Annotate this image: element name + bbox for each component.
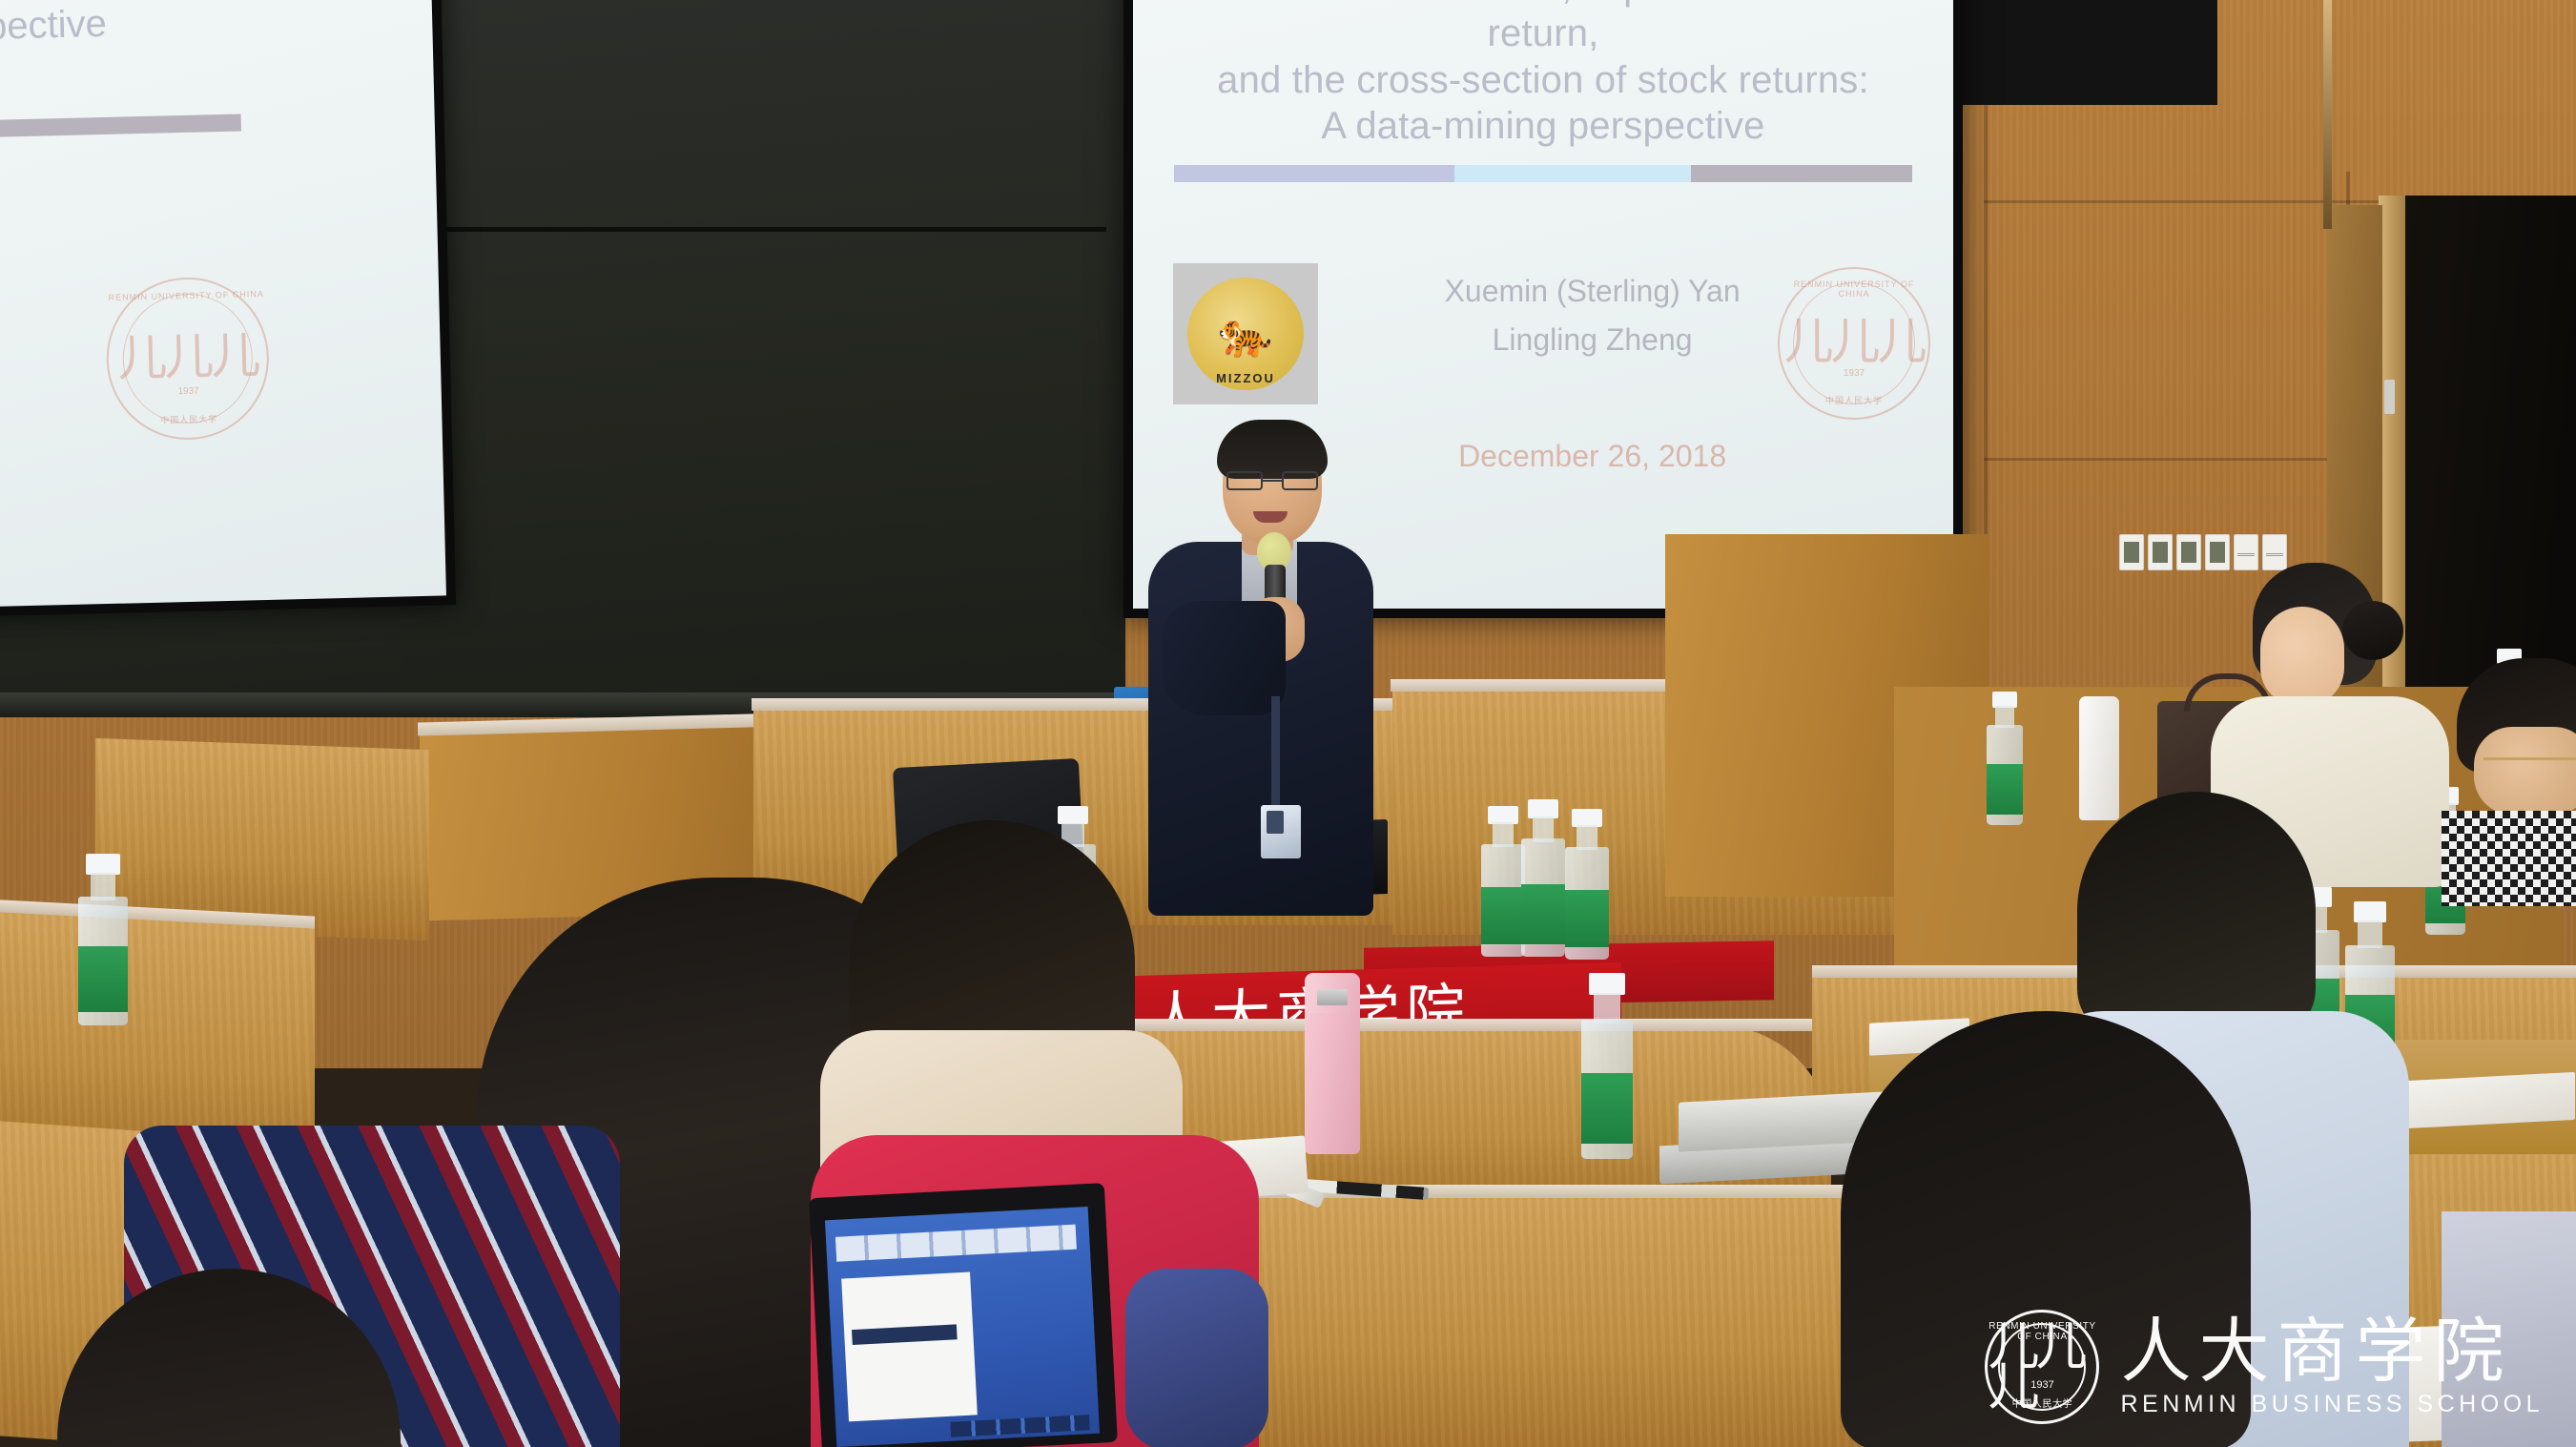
renmin-seal-watermark-icon: RENMIN UNIVERSITY OF CHINA ⼉⼉⼉ 1937 中国人民… (105, 276, 271, 442)
light-switch[interactable] (2119, 534, 2144, 570)
audience-member-man-glasses (2442, 658, 2576, 906)
laptop-document-window[interactable] (841, 1272, 978, 1422)
mizzou-wordmark: MIZZOU (1187, 371, 1304, 385)
audience-face (2260, 607, 2344, 706)
pink-thermos[interactable] (1305, 973, 1360, 1154)
audience-monitor-sliver (2442, 1211, 2576, 1447)
document-text-block (852, 1324, 958, 1345)
audience-collar-pattern (2442, 811, 2576, 906)
blackboard-split-line (420, 227, 1106, 232)
speaker-hair (1217, 420, 1328, 479)
acoustic-panel (1960, 0, 2217, 105)
seal-bottom-text: 中国人民大学 (1780, 394, 1928, 406)
slide-title-line-1: Macroeconomic risk, expected market retu… (1165, 0, 1920, 57)
seal-top-text: RENMIN UNIVERSITY OF CHINA (1780, 279, 1928, 299)
mizzou-disc: 🐅 MIZZOU (1187, 278, 1304, 390)
eyeglasses-icon (2483, 757, 2576, 775)
audience-member-foreground-left (57, 1269, 401, 1447)
slide-rule-segment-2 (1454, 165, 1691, 182)
door-gap-light (2323, 0, 2332, 229)
renmin-seal-watermark-icon: RENMIN UNIVERSITY OF CHINA ⼉⼉⼉ 1937 中国人民… (1778, 267, 1930, 420)
audience-hair (1841, 1011, 2251, 1447)
audience-member-foreground-right (1841, 1011, 2251, 1447)
water-bottle[interactable] (1984, 692, 2026, 825)
slide-rule-segment-1 (1174, 165, 1454, 182)
door-latch-icon (2384, 380, 2395, 414)
blackboard-center (401, 0, 1125, 706)
audience-coat-sleeve (1125, 1269, 1268, 1447)
seal-bottom-text: 中国人民大学 (110, 411, 268, 427)
slide-rule-segment-3 (1691, 165, 1912, 182)
slide-title: Macroeconomic risk, expected market retu… (1165, 0, 1920, 150)
seal-strokes-icon: ⼉⼉⼉ (1783, 323, 1924, 363)
audience-hair-bun (2342, 601, 2403, 660)
lanyard-badge (1271, 696, 1280, 811)
left-projection-screen: turns: perspective ) Yan g 018 RENMIN UN… (0, 0, 456, 624)
speaker-arm (1162, 601, 1286, 715)
slide-rule (1174, 165, 1912, 182)
left-screen-surface: turns: perspective ) Yan g 018 RENMIN UN… (0, 0, 446, 613)
seal-strokes-icon: ⼉⼉⼉ (117, 337, 258, 380)
eyeglasses-icon (1226, 471, 1318, 490)
laptop-screen[interactable] (825, 1207, 1100, 1447)
slide-title-line-2: and the cross-section of stock returns: (1165, 57, 1920, 104)
laptop-taskbar[interactable] (950, 1415, 1090, 1437)
left-slide-rule (0, 114, 241, 152)
tiger-icon: 🐅 (1218, 312, 1272, 356)
left-slide: turns: perspective ) Yan g 018 RENMIN UN… (0, 0, 446, 613)
water-bottle[interactable] (1562, 809, 1612, 960)
water-bottle[interactable] (1518, 799, 1568, 957)
light-switch[interactable] (2148, 534, 2173, 570)
slide-title-line-3: A data-mining perspective (1165, 103, 1920, 150)
water-bottle[interactable] (74, 854, 132, 1025)
badge-photo (1267, 811, 1284, 834)
audience-laptop-open[interactable] (815, 1190, 1111, 1447)
audience-hair (2077, 792, 2316, 1040)
laptop-toolbar (835, 1225, 1077, 1262)
seal-year: 1937 (1780, 368, 1928, 379)
audience-hair (57, 1269, 401, 1447)
left-slide-title-fragment: perspective (0, 3, 107, 51)
lecture-hall-photo: turns: perspective ) Yan g 018 RENMIN UN… (0, 0, 2576, 1447)
thermos-clip (1317, 989, 1348, 1005)
seal-top-text: RENMIN UNIVERSITY OF CHINA (107, 289, 265, 302)
water-bottle[interactable] (1577, 973, 1637, 1159)
